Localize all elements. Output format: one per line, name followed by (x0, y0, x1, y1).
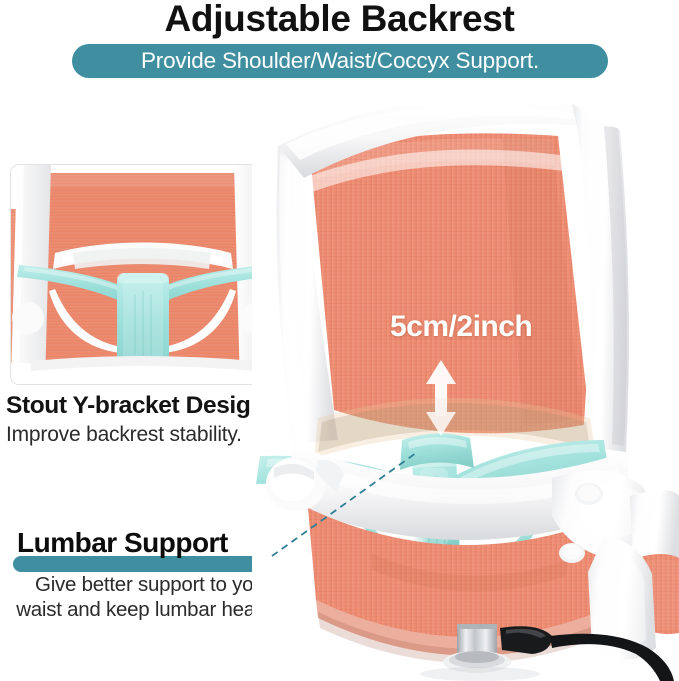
chair-product-photo (252, 88, 679, 681)
chair-illustration (252, 88, 679, 681)
infographic-page: Adjustable Backrest Provide Shoulder/Wai… (0, 0, 679, 681)
y-bracket-closeup-photo (11, 165, 274, 384)
double-vertical-arrow-icon (418, 358, 464, 438)
y-bracket-closeup-panel (10, 164, 275, 385)
page-title: Adjustable Backrest (0, 0, 679, 40)
subtitle-text: Provide Shoulder/Waist/Coccyx Support. (72, 44, 608, 78)
stout-bracket-body: Improve backrest stability. (6, 423, 242, 447)
stout-bracket-heading: Stout Y-bracket Design (6, 392, 265, 420)
lumbar-support-heading: Lumbar Support (17, 527, 228, 559)
subtitle-banner: Provide Shoulder/Waist/Coccyx Support. (72, 44, 608, 78)
measurement-label: 5cm/2inch (390, 310, 532, 344)
